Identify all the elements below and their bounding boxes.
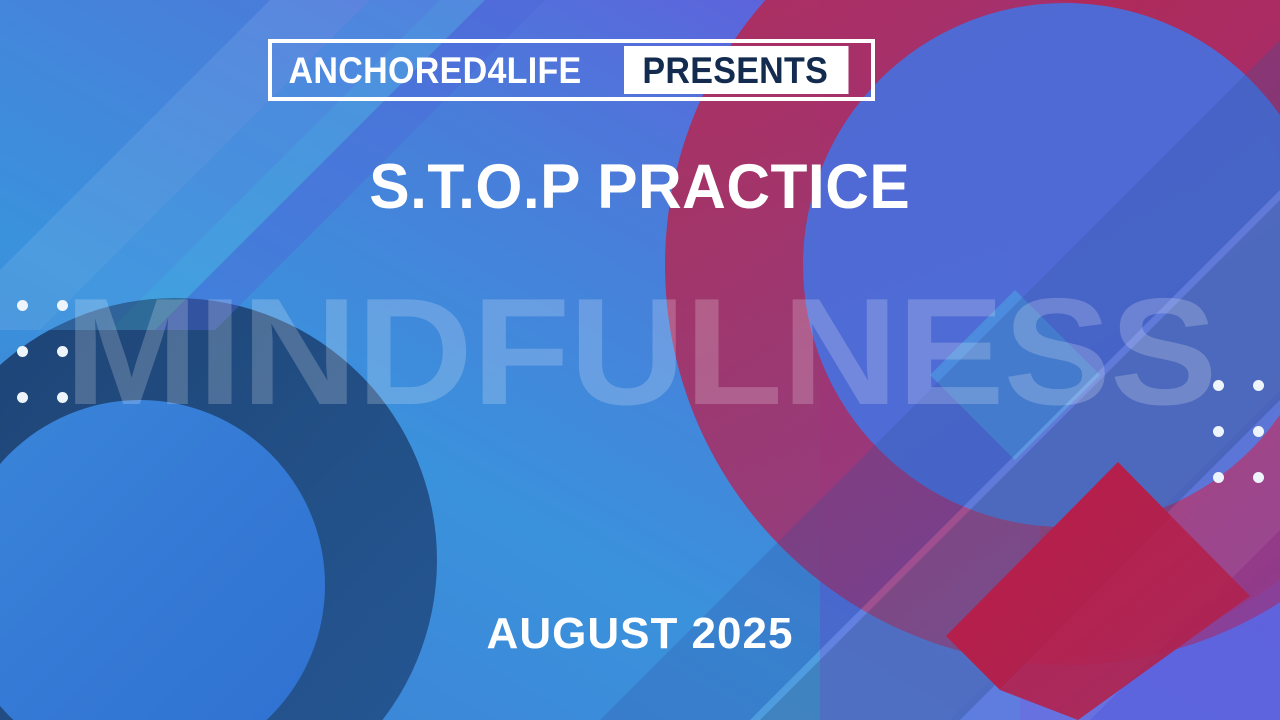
presenter-name: ANCHORED4LIFE: [272, 43, 596, 97]
watermark-label: MINDFULNESS: [64, 276, 1216, 428]
dot: [17, 300, 28, 311]
dot: [17, 346, 28, 357]
dot: [17, 392, 28, 403]
page-title: S.T.O.P PRACTICE: [0, 154, 1280, 220]
dot-grid-left: [17, 300, 97, 438]
presenter-lockup: ANCHORED4LIFE PRESENTS: [268, 39, 875, 101]
dot-grid-right: [1213, 380, 1280, 518]
watermark-text: MINDFULNESS: [0, 276, 1280, 428]
date-text: AUGUST 2025: [487, 612, 794, 656]
dot: [57, 346, 68, 357]
title-slide: MINDFULNESS ANCHORED4LIFE PRESENTS S.T.O…: [0, 0, 1280, 720]
dot: [1253, 426, 1264, 437]
dot: [57, 392, 68, 403]
dot: [1213, 426, 1224, 437]
dot: [1213, 472, 1224, 483]
dot: [1253, 472, 1264, 483]
page-title-text: S.T.O.P PRACTICE: [370, 154, 911, 220]
dot: [1213, 380, 1224, 391]
slide-content: MINDFULNESS ANCHORED4LIFE PRESENTS S.T.O…: [0, 0, 1280, 720]
presents-label: PRESENTS: [624, 46, 848, 94]
dot: [57, 300, 68, 311]
dot: [1253, 380, 1264, 391]
date-label: AUGUST 2025: [0, 612, 1280, 656]
